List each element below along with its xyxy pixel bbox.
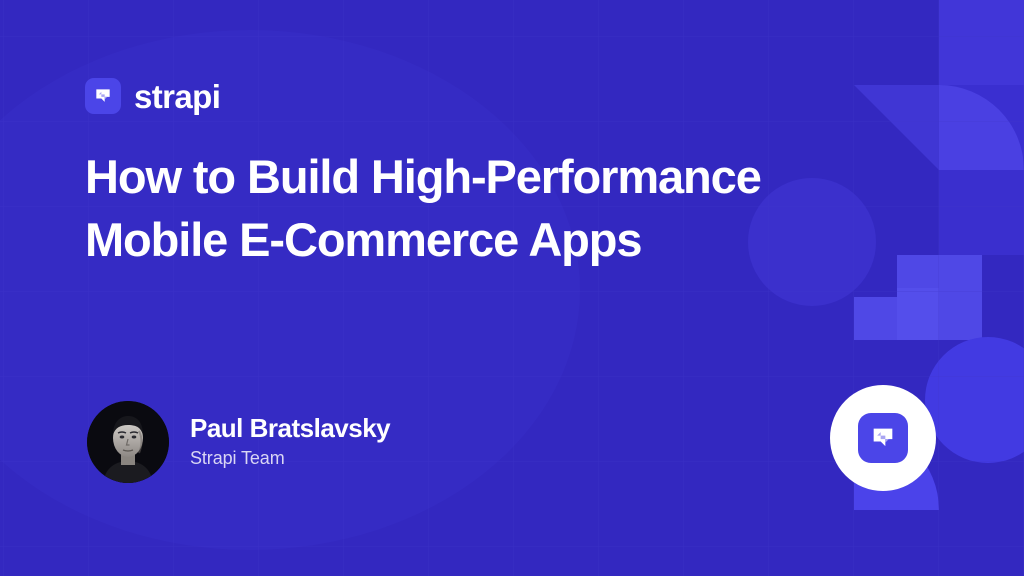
author-text: Paul Bratslavsky Strapi Team — [190, 414, 390, 469]
page-title-line-2: Mobile E-Commerce Apps — [85, 209, 895, 272]
page-title: How to Build High-Performance Mobile E-C… — [85, 146, 895, 271]
author-name: Paul Bratslavsky — [190, 414, 390, 444]
brand-wordmark: strapi — [134, 80, 220, 113]
avatar — [87, 401, 169, 483]
slide-canvas: strapi How to Build High-Performance Mob… — [0, 0, 1024, 576]
strapi-badge — [830, 385, 936, 491]
brand-logo-lockup[interactable]: strapi — [85, 78, 220, 114]
strapi-logo-icon — [85, 78, 121, 114]
author-block: Paul Bratslavsky Strapi Team — [87, 401, 390, 483]
strapi-logo-icon — [858, 413, 908, 463]
strapi-glyph — [93, 86, 113, 106]
author-avatar-photo — [87, 401, 169, 483]
page-title-line-1: How to Build High-Performance — [85, 146, 895, 209]
strapi-glyph — [869, 424, 897, 452]
author-role: Strapi Team — [190, 448, 390, 470]
